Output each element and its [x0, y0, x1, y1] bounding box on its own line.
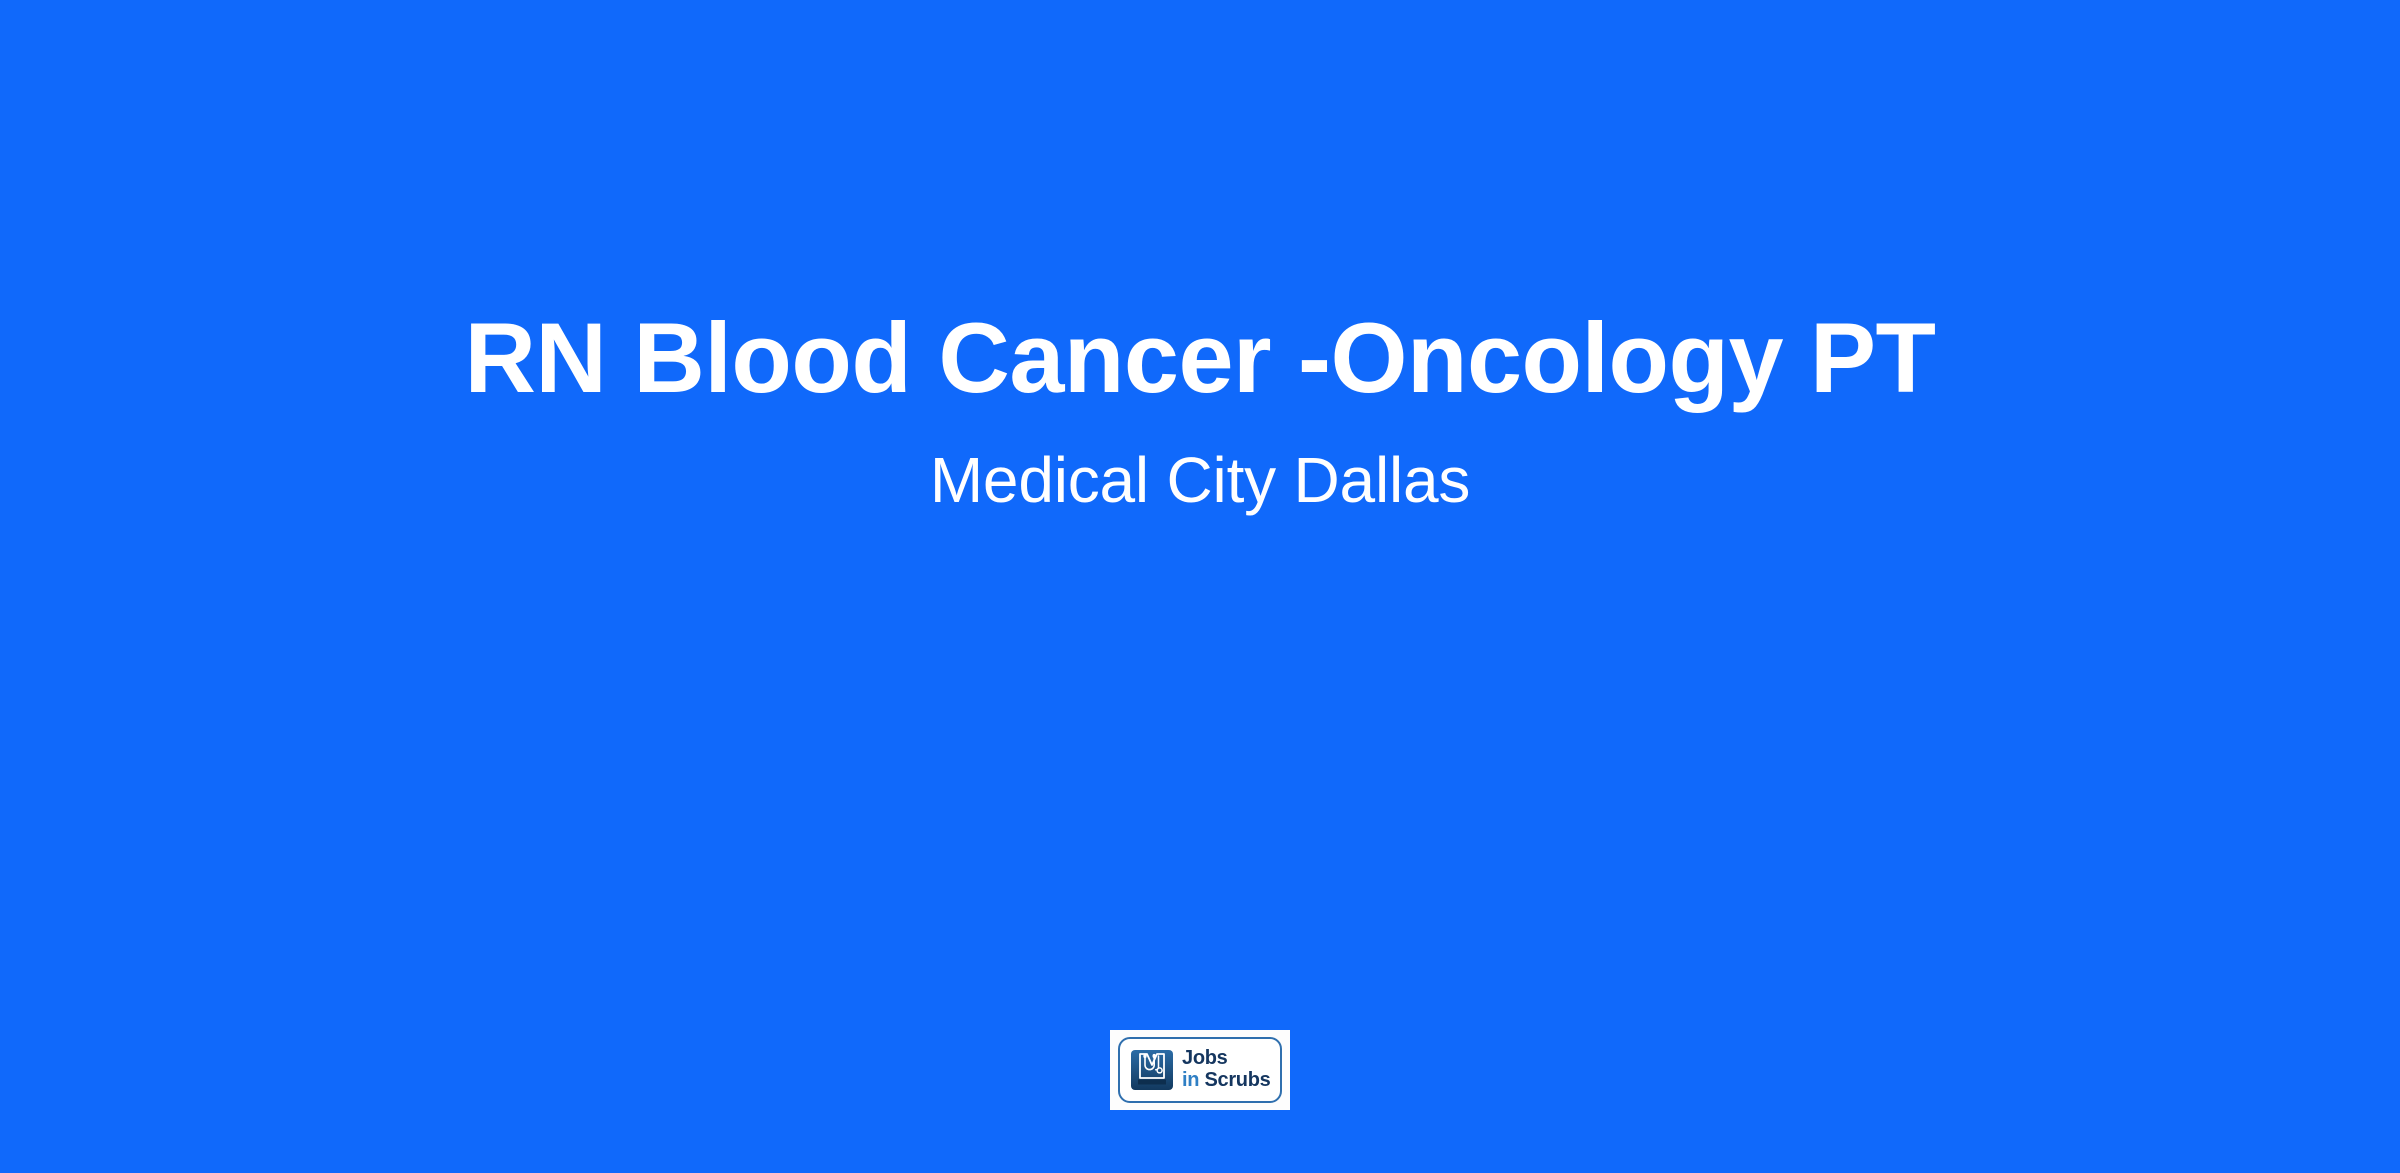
brand-badge-in-word: in [1182, 1069, 1199, 1091]
brand-badge-line-1: Jobs [1182, 1048, 1270, 1069]
page-subtitle: Medical City Dallas [930, 442, 1470, 519]
hero-section: RN Blood Cancer -Oncology PT Medical Cit… [0, 0, 2400, 1000]
brand-badge-scrubs-word: Scrubs [1204, 1069, 1270, 1091]
brand-badge[interactable]: Jobs in Scrubs [1110, 1030, 1290, 1110]
job-posting-slide: RN Blood Cancer -Oncology PT Medical Cit… [0, 0, 2400, 1173]
scrubs-stethoscope-icon [1130, 1048, 1174, 1092]
brand-badge-text: Jobs in Scrubs [1182, 1048, 1270, 1092]
brand-badge-line-2: in Scrubs [1182, 1070, 1270, 1091]
page-title: RN Blood Cancer -Oncology PT [464, 301, 1935, 416]
brand-badge-frame: Jobs in Scrubs [1118, 1037, 1282, 1103]
brand-badge-container: Jobs in Scrubs [0, 1030, 2400, 1110]
